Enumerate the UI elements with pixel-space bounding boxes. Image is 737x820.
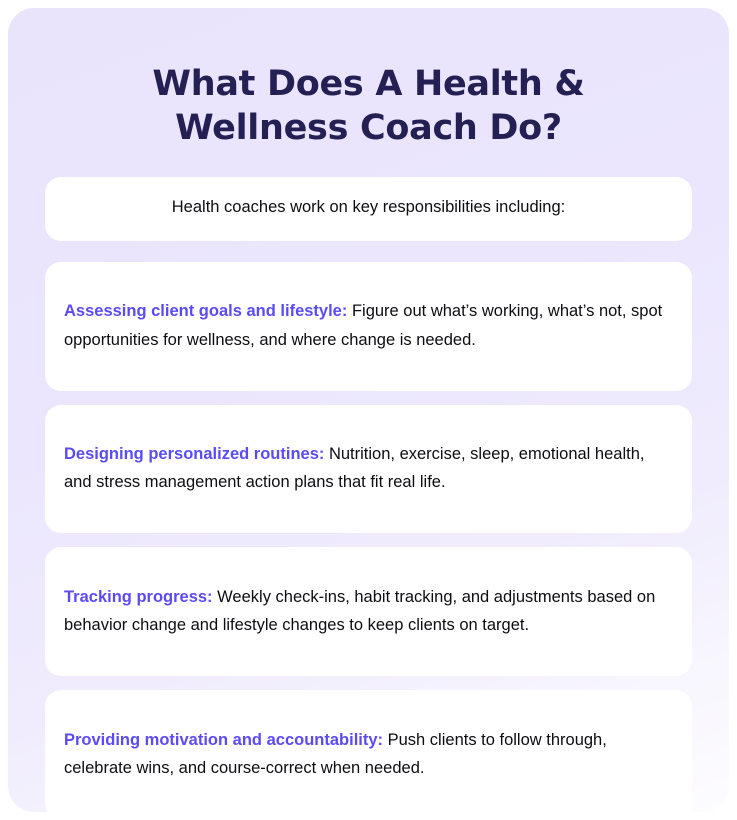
bullet-lead: Providing motivation and accountability: [64, 731, 383, 749]
responsibility-card-1: Assessing client goals and lifestyle: Fi… [45, 262, 692, 391]
responsibility-card-3: Tracking progress: Weekly check-ins, hab… [45, 547, 692, 676]
responsibility-card-2: Designing personalized routines: Nutriti… [45, 405, 692, 534]
responsibility-card-4: Providing motivation and accountability:… [45, 690, 692, 812]
bullet-text: Assessing client goals and lifestyle: Fi… [64, 297, 673, 354]
bullet-text: Designing personalized routines: Nutriti… [64, 440, 673, 497]
cards-container: Health coaches work on key responsibilit… [8, 177, 729, 812]
poster-canvas: What Does A Health & Wellness Coach Do? … [8, 8, 729, 812]
bullet-text: Providing motivation and accountability:… [64, 726, 673, 783]
intro-text: Health coaches work on key responsibilit… [172, 198, 565, 216]
bullet-lead: Tracking progress: [64, 588, 213, 606]
bullet-lead: Assessing client goals and lifestyle: [64, 302, 347, 320]
bullet-lead: Designing personalized routines: [64, 445, 324, 463]
page-title: What Does A Health & Wellness Coach Do? [8, 8, 729, 151]
bullet-text: Tracking progress: Weekly check-ins, hab… [64, 583, 673, 640]
intro-card: Health coaches work on key responsibilit… [45, 177, 692, 241]
